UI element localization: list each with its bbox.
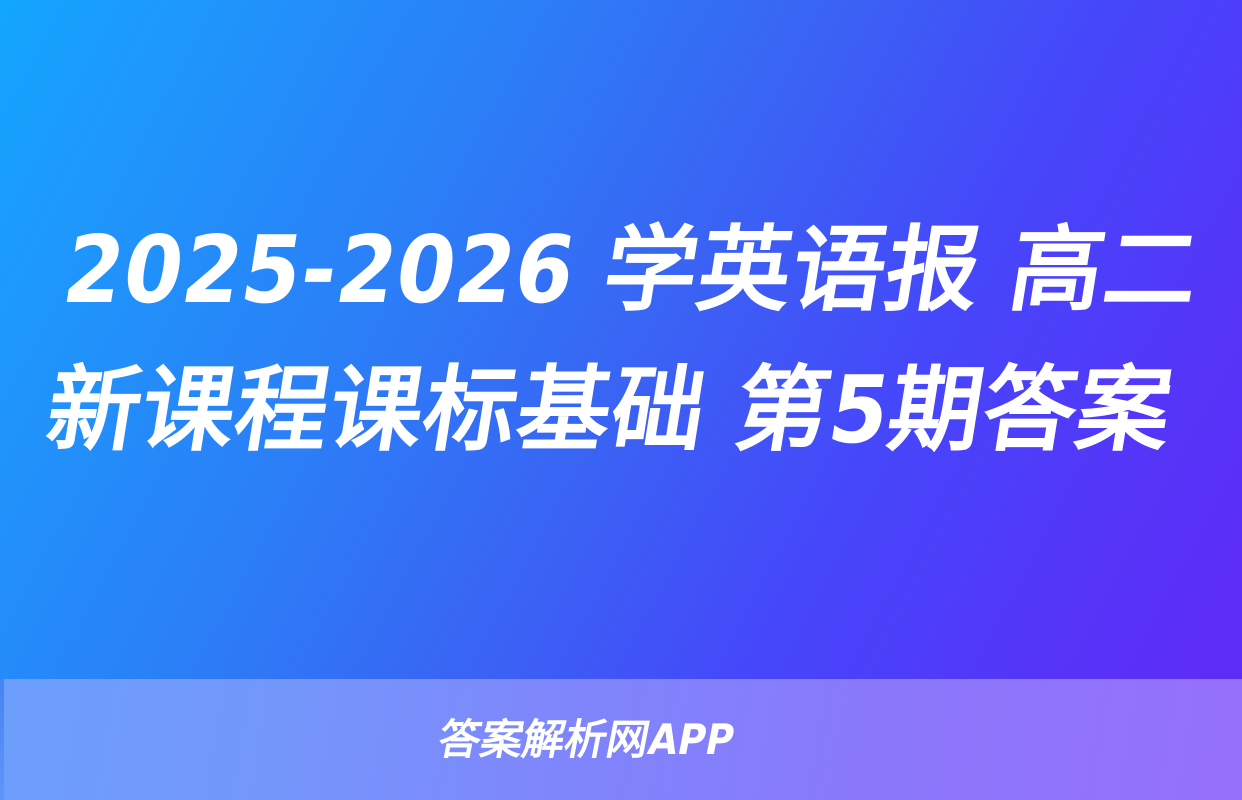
app-watermark-label: 答案解析网APP <box>435 719 738 761</box>
footer-left-edge-accent <box>0 679 4 800</box>
hero-banner: 2025-2026 学英语报 高二 新课程课标基础 第5期答案 <box>0 0 1242 679</box>
page-title: 2025-2026 学英语报 高二 新课程课标基础 第5期答案 <box>30 200 1212 480</box>
footer-watermark-bar: 答案解析网APP <box>0 679 1242 800</box>
answer-title-card: 2025-2026 学英语报 高二 新课程课标基础 第5期答案 答案解析网APP <box>0 0 1242 800</box>
